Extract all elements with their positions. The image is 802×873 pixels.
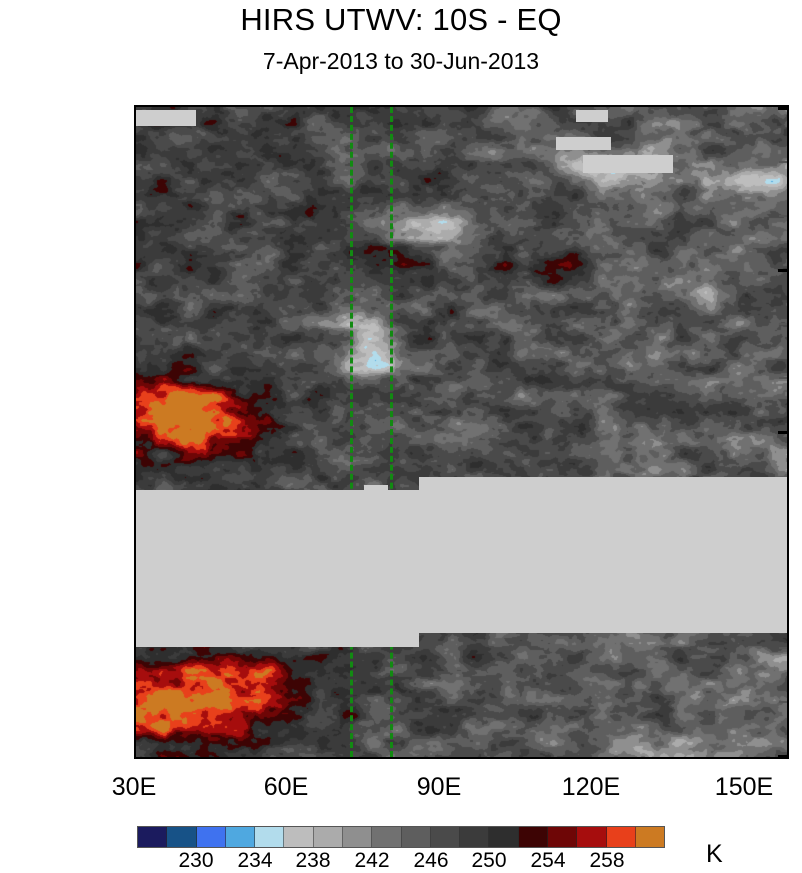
x-tick-minor-top [695, 105, 697, 107]
colorbar-swatch-4[interactable] [255, 827, 284, 847]
x-tick-minor-top [390, 105, 392, 107]
y-tick-minor-right [779, 701, 787, 703]
y-tick-minor-right [779, 161, 787, 163]
x-tick-major [288, 757, 291, 759]
y-tick-minor-right [779, 647, 787, 649]
colorbar-swatch-10[interactable] [431, 827, 460, 847]
missing-data-band-main [136, 490, 787, 633]
x-tick-minor-top [339, 105, 341, 107]
colorbar-tick-250: 250 [471, 849, 506, 873]
colorbar[interactable] [137, 826, 665, 848]
x-tick-major [136, 757, 139, 759]
missing-data-band-main-lower-left [136, 633, 419, 647]
colorbar-tick-230: 230 [178, 849, 213, 873]
y-tick-major-right [778, 269, 787, 272]
missing-data-patch-topleft [136, 110, 196, 126]
vertical-dashed-line-72e [350, 107, 353, 757]
missing-data-patch-top-c [556, 137, 611, 150]
colorbar-swatch-8[interactable] [372, 827, 401, 847]
x-tick-minor-top [543, 105, 545, 107]
vertical-dashed-line-80e [390, 107, 393, 757]
x-tick-minor-top [645, 105, 647, 107]
missing-data-patch-mid-b [604, 485, 622, 491]
y-tick-minor [134, 215, 136, 217]
x-tick-major [593, 757, 596, 759]
y-tick-minor [134, 377, 136, 379]
y-tick-minor-right [779, 215, 787, 217]
x-tick-major-top [593, 105, 596, 107]
x-tick-minor [695, 757, 697, 759]
x-tick-minor [543, 757, 545, 759]
x-axis-label-120e: 120E [562, 773, 620, 802]
colorbar-swatch-16[interactable] [607, 827, 636, 847]
y-tick-major-right [778, 431, 787, 434]
colorbar-swatch-1[interactable] [167, 827, 196, 847]
colorbar-swatch-9[interactable] [402, 827, 431, 847]
x-tick-major-top [288, 105, 291, 107]
colorbar-swatch-15[interactable] [577, 827, 606, 847]
colorbar-tick-258: 258 [589, 849, 624, 873]
x-tick-minor-top [238, 105, 240, 107]
y-tick-minor-right [779, 323, 787, 325]
page-title: HIRS UTWV: 10S - EQ [0, 2, 802, 38]
y-tick-minor [134, 701, 136, 703]
colorbar-tick-242: 242 [354, 849, 389, 873]
x-axis-label-90e: 90E [417, 773, 461, 802]
x-tick-major [441, 757, 444, 759]
colorbar-tick-234: 234 [237, 849, 272, 873]
colorbar-swatch-14[interactable] [548, 827, 577, 847]
y-tick-major-right [778, 755, 787, 758]
colorbar-tick-238: 238 [295, 849, 330, 873]
y-tick-minor [134, 161, 136, 163]
page-subtitle: 7-Apr-2013 to 30-Jun-2013 [0, 48, 802, 75]
x-tick-minor-top [492, 105, 494, 107]
x-tick-major-top [441, 105, 444, 107]
y-tick-minor-right [779, 377, 787, 379]
colorbar-tick-254: 254 [530, 849, 565, 873]
colorbar-unit-label: K [706, 840, 723, 869]
hovmoller-plot-area[interactable] [134, 105, 789, 759]
missing-data-patch-top-b [583, 155, 673, 173]
x-tick-minor [187, 757, 189, 759]
colorbar-swatch-3[interactable] [226, 827, 255, 847]
y-tick-minor [134, 485, 136, 487]
colorbar-tick-246: 246 [413, 849, 448, 873]
missing-data-patch-mid [364, 485, 388, 492]
x-tick-major [746, 757, 749, 759]
colorbar-swatch-17[interactable] [636, 827, 664, 847]
x-axis-label-30e: 30E [112, 773, 156, 802]
x-tick-minor [492, 757, 494, 759]
colorbar-swatch-11[interactable] [460, 827, 489, 847]
colorbar-swatch-0[interactable] [138, 827, 167, 847]
x-tick-minor [645, 757, 647, 759]
colorbar-swatch-6[interactable] [314, 827, 343, 847]
x-tick-minor [339, 757, 341, 759]
y-tick-major-right [778, 107, 787, 110]
y-tick-minor [134, 323, 136, 325]
x-tick-minor [390, 757, 392, 759]
x-tick-minor-top [187, 105, 189, 107]
contour-field [136, 107, 787, 757]
colorbar-swatch-2[interactable] [197, 827, 226, 847]
colorbar-swatch-5[interactable] [284, 827, 313, 847]
colorbar-swatch-12[interactable] [489, 827, 518, 847]
colorbar-swatch-7[interactable] [343, 827, 372, 847]
x-axis-label-150e: 150E [715, 773, 773, 802]
missing-data-band-main-upper-right [419, 477, 787, 490]
y-tick-minor [134, 647, 136, 649]
x-tick-major-top [136, 105, 139, 107]
x-tick-minor [238, 757, 240, 759]
colorbar-swatch-13[interactable] [519, 827, 548, 847]
x-axis-label-60e: 60E [264, 773, 308, 802]
y-tick-major [134, 431, 136, 434]
missing-data-patch-top-a [576, 110, 608, 122]
x-tick-major-top [746, 105, 749, 107]
y-tick-major [134, 269, 136, 272]
